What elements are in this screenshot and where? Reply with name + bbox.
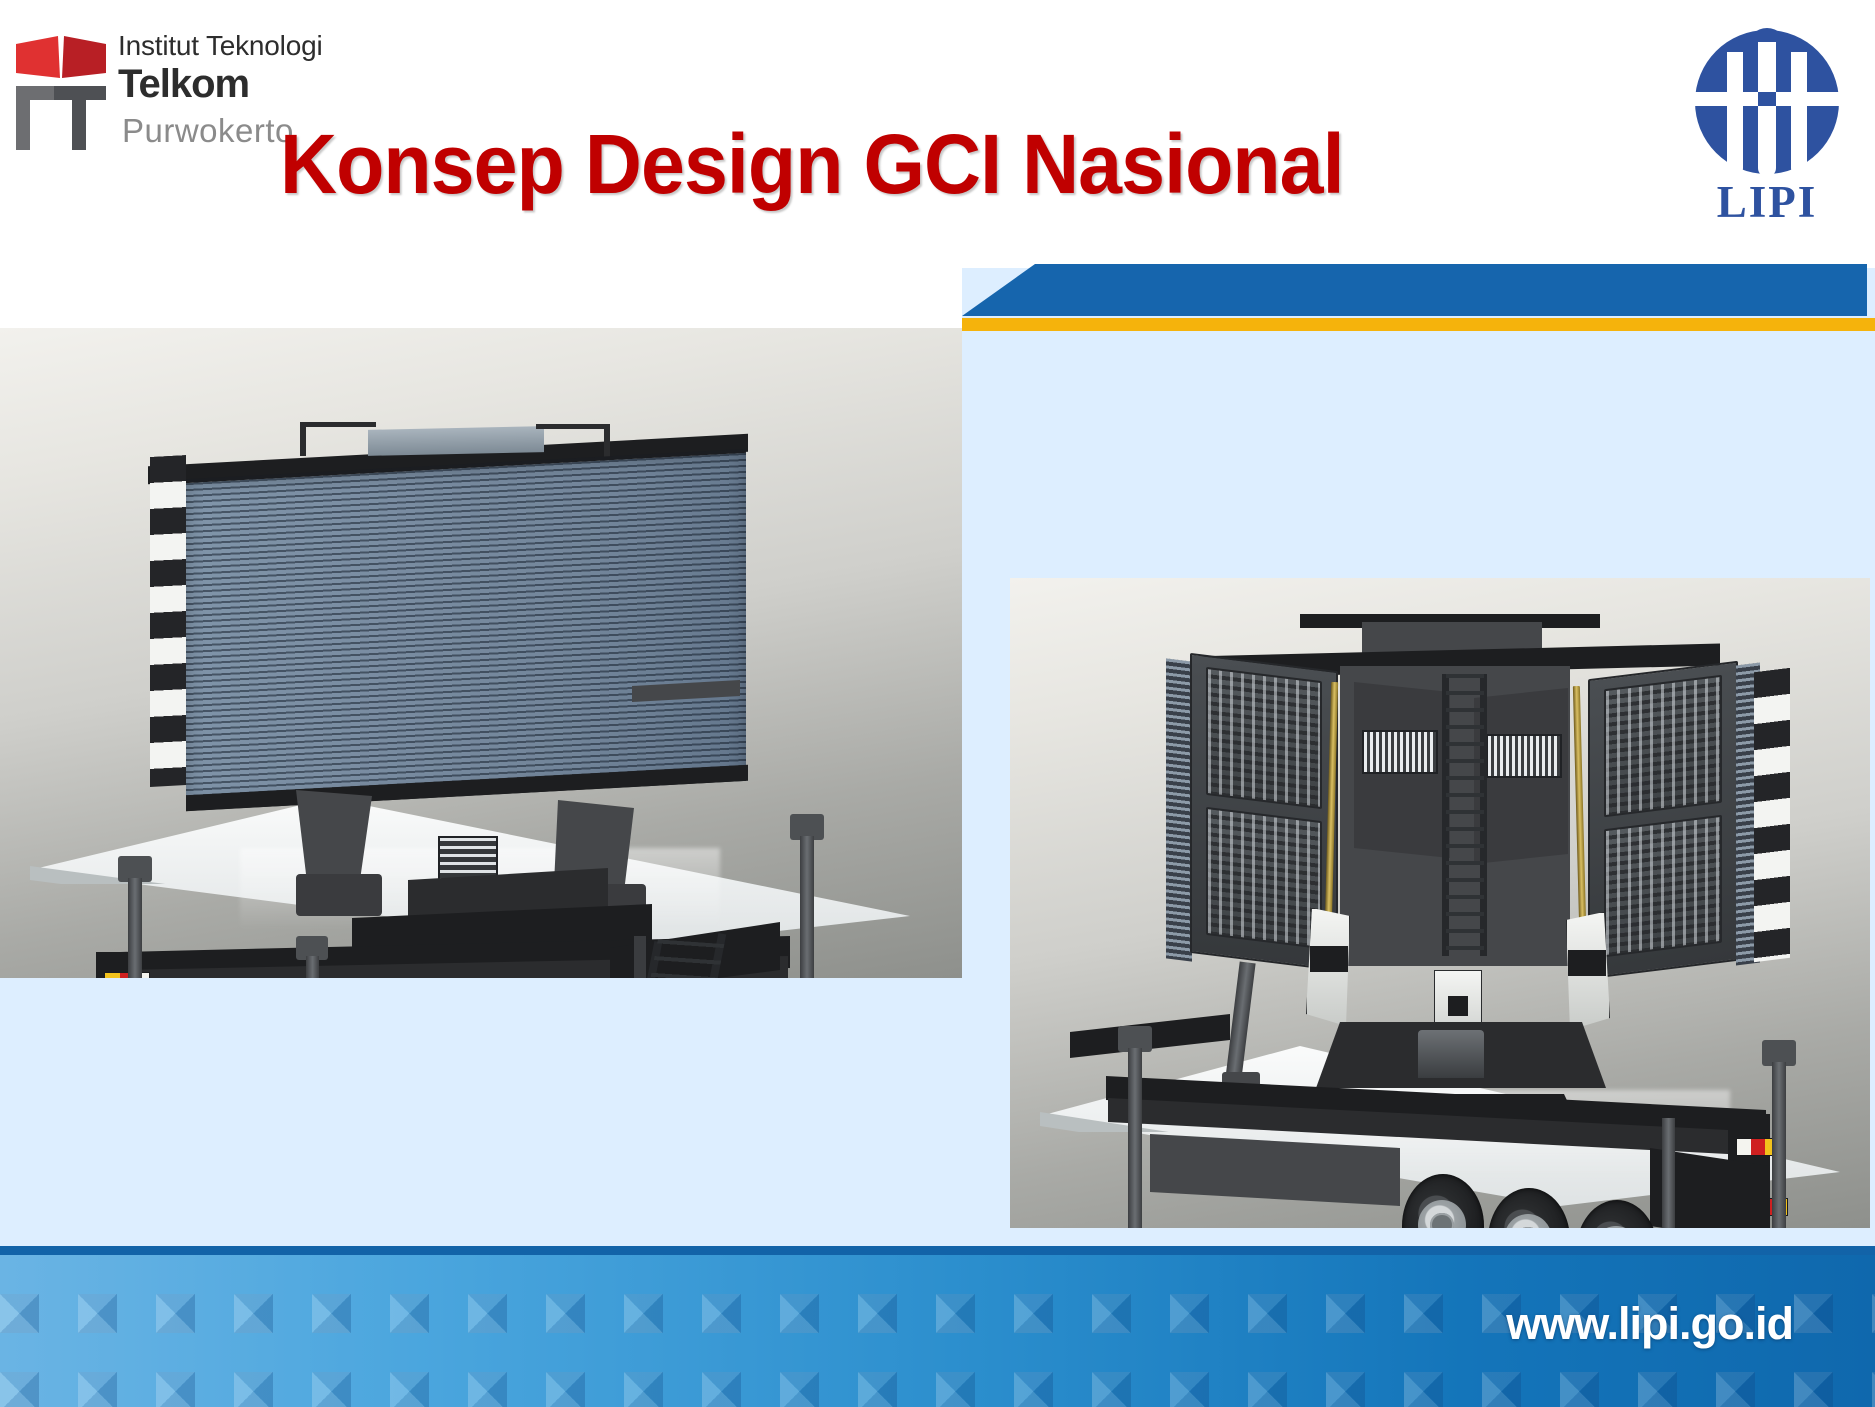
radar-scene-front xyxy=(0,328,962,978)
footer-top-border xyxy=(0,1246,1875,1255)
array-top-bracket-right xyxy=(604,428,610,460)
turntable-cylinder xyxy=(1418,1030,1484,1078)
left-panel-vent-upper xyxy=(1206,667,1322,809)
right-panel-vent-lower xyxy=(1604,815,1722,957)
lipi-emblem-icon xyxy=(1672,18,1862,186)
footer-website-url: www.lipi.go.id xyxy=(1506,1298,1793,1350)
telkom-line-institut: Institut Teknologi xyxy=(118,30,322,62)
outrigger-leg-mid xyxy=(306,956,319,978)
center-grill-left xyxy=(1362,730,1438,774)
support-strut-center xyxy=(634,936,646,978)
slide-body-white-notch xyxy=(0,268,962,328)
blue-chevron-band xyxy=(962,264,1867,316)
right-panel-vent-upper xyxy=(1604,675,1722,817)
array-top-bracket-left xyxy=(300,424,306,456)
array-top-rail-right xyxy=(536,424,610,429)
slide-canvas: Institut Teknologi Telkom Purwokerto LIP… xyxy=(0,0,1875,1407)
lipi-logo: LIPI xyxy=(1672,18,1862,230)
center-grill-right xyxy=(1486,734,1562,778)
outrigger-leg-left-rear xyxy=(1128,1048,1142,1228)
reflective-marker xyxy=(104,972,150,978)
center-actuator-label xyxy=(1448,996,1468,1016)
lipi-wordmark: LIPI xyxy=(1672,176,1862,228)
trailer-wheel xyxy=(1576,1200,1658,1228)
page-title: Konsep Design GCI Nasional xyxy=(280,118,1417,210)
array-top-module xyxy=(368,426,544,456)
outrigger-leg-left xyxy=(128,878,142,978)
telkom-line-purwokerto: Purwokerto xyxy=(122,112,294,150)
actuator-collar-left xyxy=(1310,946,1348,972)
outrigger-leg-right-rear xyxy=(1772,1062,1786,1228)
outrigger-leg-mid-rear xyxy=(1662,1118,1675,1228)
planar-array-face xyxy=(186,449,746,811)
array-pivot-left xyxy=(296,874,382,916)
left-panel-vent-lower xyxy=(1206,807,1322,949)
figure-gci-radar-rear-view xyxy=(1010,578,1870,1228)
array-support-arm-left xyxy=(296,790,372,880)
figure-gci-radar-front-view xyxy=(0,328,962,978)
array-edge-checker-strip xyxy=(150,455,186,787)
center-ladder-rungs xyxy=(1446,674,1484,956)
slide-footer: www.lipi.go.id xyxy=(0,1246,1875,1407)
yellow-accent-bar xyxy=(962,318,1875,331)
telkom-line-telkom: Telkom xyxy=(118,62,249,107)
telkom-book-mark-icon xyxy=(14,32,110,150)
radar-scene-rear xyxy=(1010,578,1870,1228)
slide-header: Institut Teknologi Telkom Purwokerto LIP… xyxy=(0,0,1875,268)
array-top-rail-left xyxy=(300,422,376,427)
actuator-collar-right xyxy=(1568,950,1606,976)
left-panel-edge-array xyxy=(1166,658,1192,961)
right-panel-checker-strip xyxy=(1754,668,1790,962)
outrigger-leg-right xyxy=(800,836,814,978)
hydraulic-rod-right xyxy=(1573,686,1586,926)
